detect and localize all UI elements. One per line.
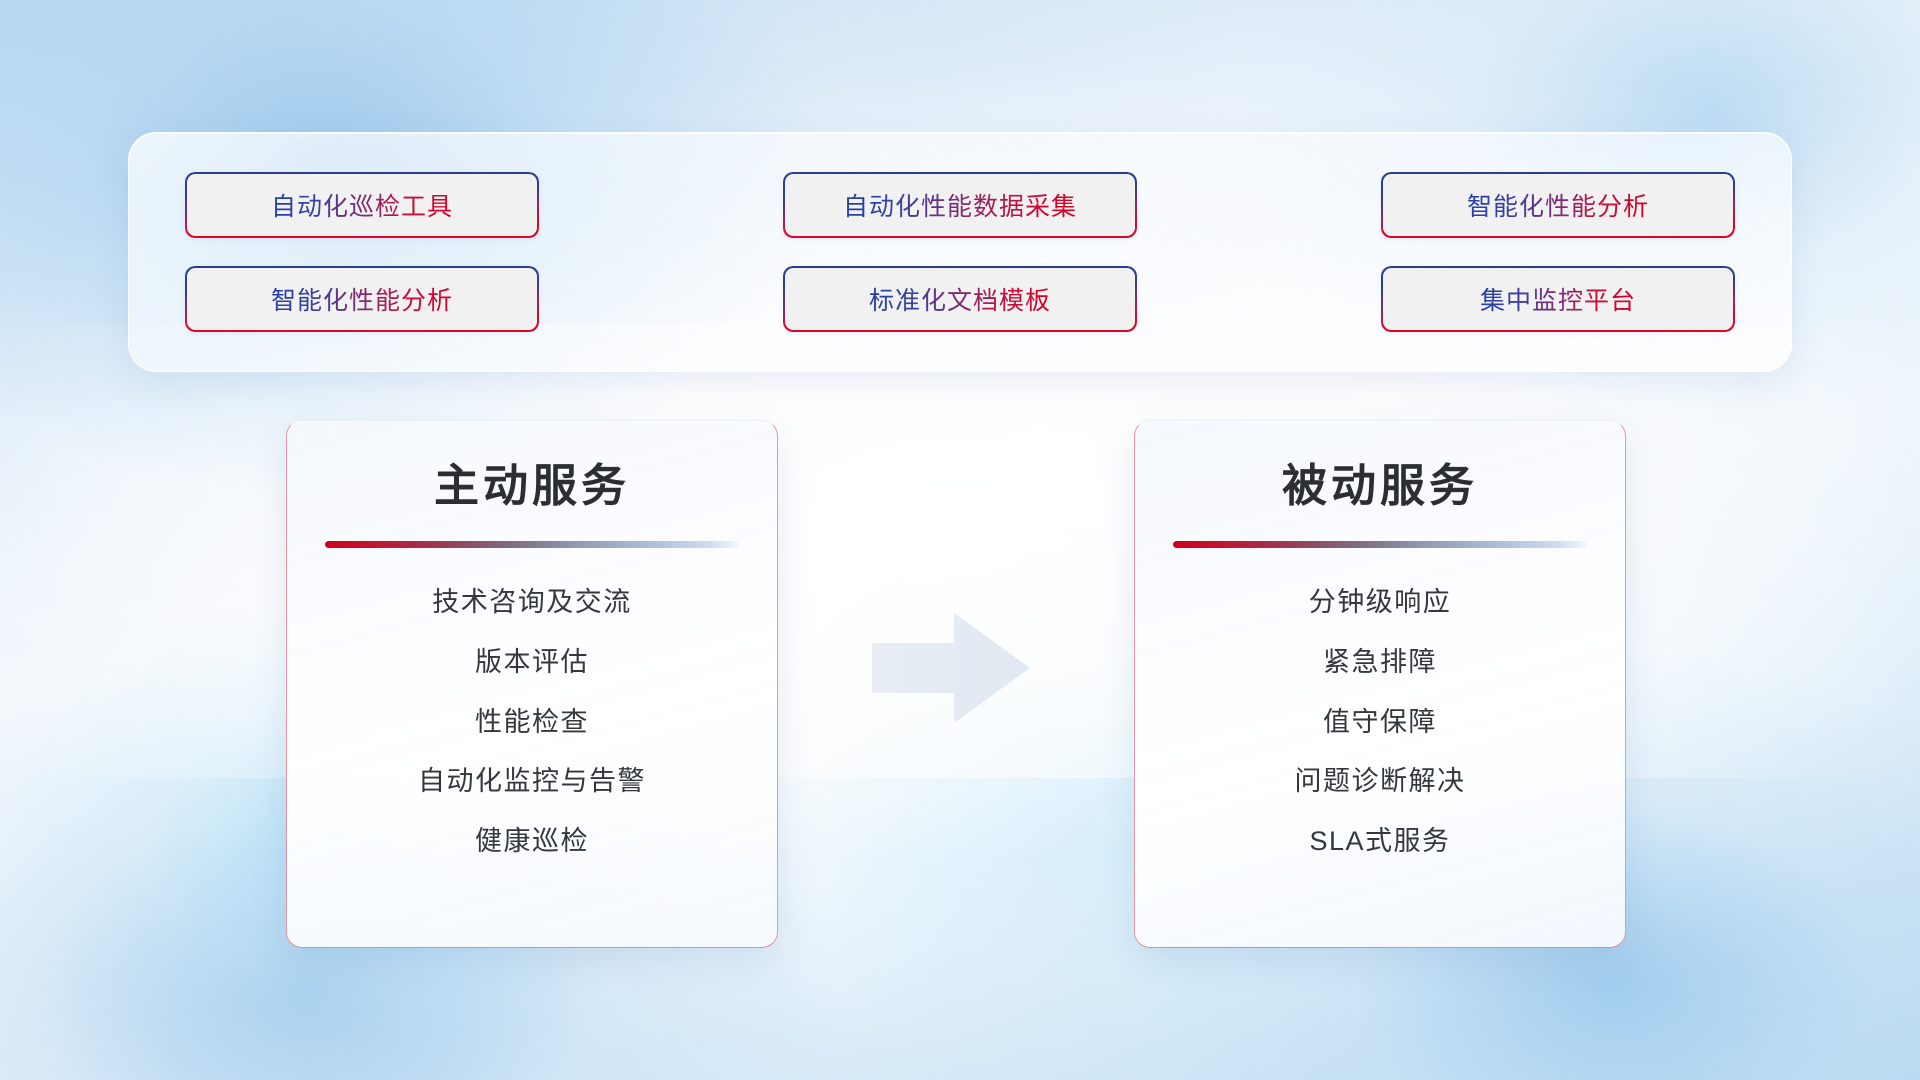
list-item[interactable]: 分钟级响应 xyxy=(1309,586,1452,620)
capability-pill-central-monitoring-platform[interactable]: 集中监控平台 xyxy=(1381,266,1735,332)
service-card-active: 主动服务 技术咨询及交流 版本评估 性能检查 自动化监控与告警 健康巡检 xyxy=(286,420,778,948)
list-item[interactable]: 紧急排障 xyxy=(1323,646,1437,680)
list-item[interactable]: 技术咨询及交流 xyxy=(432,586,632,620)
capability-pill-label: 智能化性能分析 xyxy=(271,281,453,317)
capability-pill-label: 自动化巡检工具 xyxy=(271,187,453,223)
service-card-title: 被动服务 xyxy=(1169,459,1591,513)
capability-pill-label: 智能化性能分析 xyxy=(1467,187,1649,223)
capability-pill-label: 标准化文档模板 xyxy=(869,281,1051,317)
list-item[interactable]: 性能检查 xyxy=(475,706,589,740)
title-divider-bar xyxy=(325,541,739,548)
capability-pill-intelligent-perf-analysis-2[interactable]: 智能化性能分析 xyxy=(185,266,539,332)
list-item[interactable]: 问题诊断解决 xyxy=(1295,765,1466,799)
list-item[interactable]: 健康巡检 xyxy=(475,825,589,859)
list-item[interactable]: 值守保障 xyxy=(1323,706,1437,740)
service-item-list: 技术咨询及交流 版本评估 性能检查 自动化监控与告警 健康巡检 xyxy=(321,586,743,859)
title-divider-bar xyxy=(1173,541,1587,548)
service-card-title: 主动服务 xyxy=(321,459,743,513)
capability-pill-label: 自动化性能数据采集 xyxy=(843,187,1077,223)
arrow-right-icon xyxy=(872,613,1030,723)
service-card-passive: 被动服务 分钟级响应 紧急排障 值守保障 问题诊断解决 SLA式服务 xyxy=(1134,420,1626,948)
list-item[interactable]: SLA式服务 xyxy=(1309,825,1450,859)
capability-pill-label: 集中监控平台 xyxy=(1480,281,1636,317)
capability-row-2: 智能化性能分析 标准化文档模板 集中监控平台 xyxy=(185,266,1735,332)
capability-pill-auto-perf-data-collection[interactable]: 自动化性能数据采集 xyxy=(783,172,1137,238)
capability-pill-auto-inspection-tool[interactable]: 自动化巡检工具 xyxy=(185,172,539,238)
list-item[interactable]: 自动化监控与告警 xyxy=(418,765,646,799)
service-item-list: 分钟级响应 紧急排障 值守保障 问题诊断解决 SLA式服务 xyxy=(1169,586,1591,859)
capability-pill-intelligent-perf-analysis[interactable]: 智能化性能分析 xyxy=(1381,172,1735,238)
list-item[interactable]: 版本评估 xyxy=(475,646,589,680)
capability-row-1: 自动化巡检工具 自动化性能数据采集 智能化性能分析 xyxy=(185,172,1735,238)
capability-pill-standard-doc-template[interactable]: 标准化文档模板 xyxy=(783,266,1137,332)
capability-tags-panel: 自动化巡检工具 自动化性能数据采集 智能化性能分析 智能化性能分析 标准化文档模… xyxy=(128,132,1792,372)
